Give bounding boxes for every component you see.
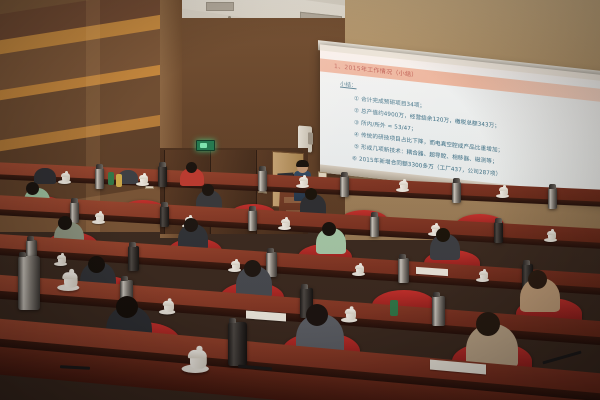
thermos-flask — [548, 188, 557, 209]
thermos-flask — [158, 166, 167, 187]
cup-knob — [235, 259, 238, 262]
audience-head — [186, 162, 197, 173]
exit-sign-icon — [196, 140, 215, 151]
thermos-flask — [370, 216, 379, 237]
cup-knob — [403, 179, 406, 182]
thermos-flask — [340, 176, 349, 197]
cup-knob — [503, 185, 506, 188]
ceiling-vent — [206, 2, 234, 11]
presenter-hair — [296, 160, 309, 167]
cup-knob — [195, 346, 201, 352]
thermos-flask — [95, 168, 104, 189]
cup-knob — [99, 211, 102, 214]
bottle — [108, 172, 114, 185]
cup-knob — [551, 229, 554, 232]
cup-knob — [65, 171, 68, 174]
cup-knob — [435, 223, 438, 226]
audience-person — [34, 168, 56, 184]
thermos-flask — [228, 322, 247, 366]
audience-head — [58, 216, 72, 230]
audience-head — [306, 304, 328, 326]
audience-head — [244, 260, 261, 277]
thermos-flask — [128, 246, 139, 271]
cup-knob — [167, 298, 171, 302]
seating-area — [0, 170, 600, 400]
microphone-cable — [542, 351, 581, 365]
audience-head — [184, 218, 198, 232]
auditorium-photo: 1、2015年工作情况（小结） 小结： ① 合计完成预研项目34项； ② 总产值… — [0, 0, 600, 400]
thermos-flask — [432, 296, 445, 326]
audience-head — [322, 222, 336, 236]
bottle — [116, 174, 122, 187]
cup-knob — [359, 263, 362, 266]
slide-subheading: 小结： — [340, 80, 357, 90]
thermos-flask — [18, 256, 40, 310]
thermos-flask — [494, 222, 503, 243]
audience-head — [202, 184, 214, 196]
thermos-flask — [258, 170, 267, 191]
thermos-flask — [452, 182, 461, 203]
audience-head — [528, 270, 547, 289]
cup-knob — [143, 173, 146, 176]
cup-knob — [285, 217, 288, 220]
audience-head — [305, 188, 317, 200]
audience-head — [436, 228, 450, 242]
thermos-flask — [398, 258, 409, 283]
cup-knob — [303, 175, 306, 178]
thermos-flask — [160, 206, 169, 227]
audience-head — [476, 312, 500, 336]
thermos-flask — [248, 210, 257, 231]
notepad — [246, 310, 286, 321]
cup-knob — [349, 306, 353, 310]
cup-knob — [61, 253, 64, 256]
cup-knob — [68, 269, 73, 274]
audience-head — [26, 182, 39, 195]
bottle — [390, 300, 398, 316]
audience-head — [116, 296, 138, 318]
cup-knob — [483, 269, 486, 272]
audience-head — [88, 256, 105, 273]
